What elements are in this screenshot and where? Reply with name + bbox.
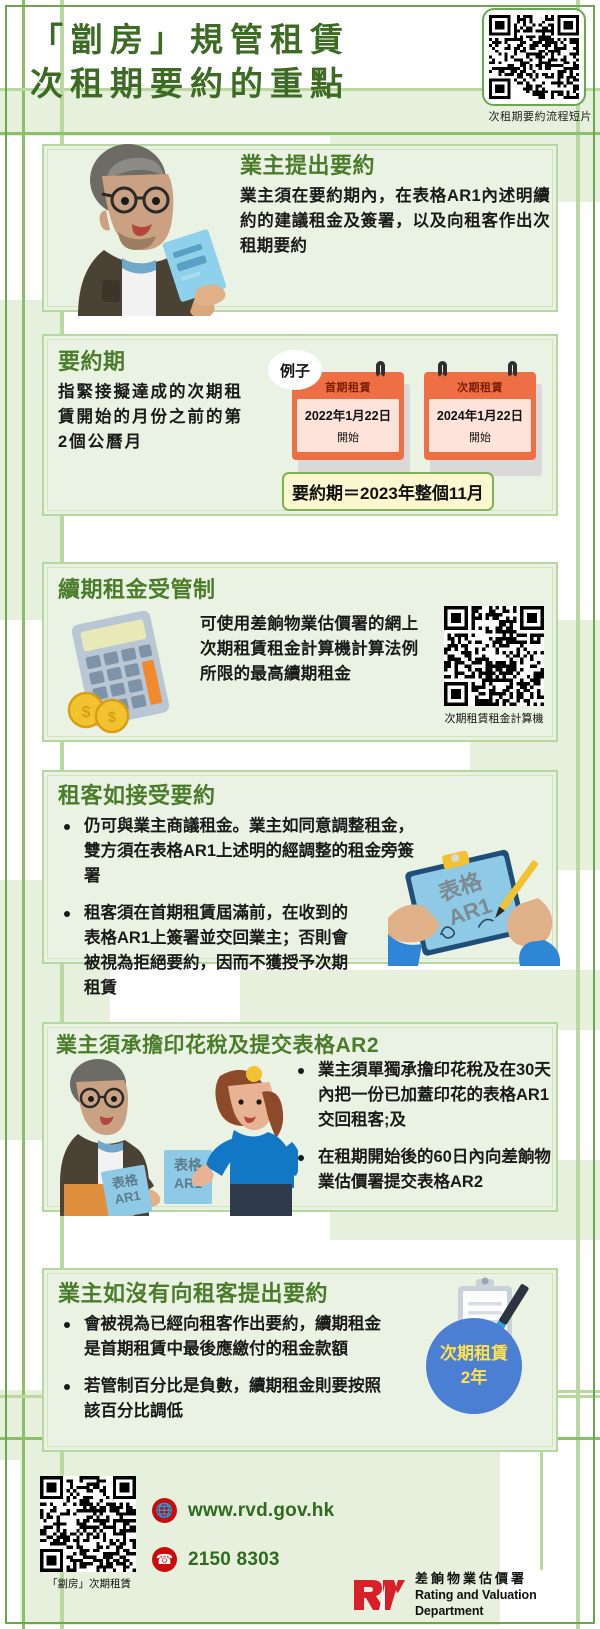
calendar-1-note: 開始 — [299, 429, 397, 445]
section-3-heading: 續期租金受管制 — [58, 576, 358, 604]
section-2-body: 指緊接擬達成的次期租賃開始的月份之前的第2個公曆月 — [58, 380, 248, 455]
calendar-1-date: 2022年1月22日 — [299, 405, 397, 424]
section-1-body: 業主須在要約期內，在表格AR1內述明續約的建議租金及簽署，以及向租客作出次租期要… — [240, 184, 550, 259]
status-badge-second-term: 次期租賃 2年 — [426, 1318, 522, 1414]
list-item: 租客須在首期租賃屆滿前，在收到的表格AR1上簽署並交回業主；否則會被視為拒絕要約… — [58, 901, 348, 1001]
qr-video-caption: 次租期要約流程短片 — [452, 108, 592, 124]
list-item: 若管制百分比是負數，續期租金則要按照該百分比調低 — [58, 1374, 388, 1424]
phone-text: 2150 8303 — [188, 1549, 280, 1571]
svg-text:$: $ — [82, 704, 91, 721]
section-5-bullets: 業主須單獨承擔印花稅及在30天內把一份已加蓋印花的表格AR1交回租客;及 在租期… — [292, 1058, 554, 1207]
phone-row[interactable]: ☎ 2150 8303 — [152, 1547, 280, 1572]
calendar-2-title: 次期租賃 — [429, 376, 531, 399]
title-line-1: 「劏房」規管租賃 — [30, 18, 470, 62]
section-2-heading: 要約期 — [58, 348, 278, 376]
globe-icon: 🌐 — [152, 1498, 177, 1523]
section-4-bullets: 仍可與業主商議租金。業主如同意調整租金，雙方須在表格AR1上述明的經調整的租金旁… — [58, 814, 428, 1013]
landlord-and-tenant-exchanging-form-ar1-illustration: 表格 AR1 表格 AR1 — [48, 1058, 298, 1216]
poster-header: 「劏房」規管租賃 次租期要約的重點 次租期要約流程短片 — [0, 0, 600, 135]
poster-footer: 「劏房」次期租賃 🌐 www.rvd.gov.hk ☎ 2150 8303 差餉… — [0, 1440, 600, 1629]
rvd-logo: 差餉物業估價署 Rating and Valuation Department — [352, 1570, 600, 1619]
list-item: 仍可與業主商議租金。業主如同意調整租金，雙方須在表格AR1上述明的經調整的租金旁… — [58, 814, 428, 889]
man-holding-form-ar1-illustration — [46, 140, 236, 316]
footer-qr-caption: 「劏房」次期租賃 — [34, 1576, 144, 1591]
qr-code-icon-subdivided-unit[interactable] — [40, 1476, 136, 1572]
qr-code-icon-calculator[interactable] — [444, 606, 544, 706]
offer-period-summary: 要約期＝2023年整個11月 — [282, 472, 494, 511]
list-item: 業主須單獨承擔印花稅及在30天內把一份已加蓋印花的表格AR1交回租客;及 — [292, 1058, 554, 1133]
title-line-2: 次租期要約的重點 — [30, 62, 470, 106]
dept-name-en: Rating and Valuation Department — [415, 1587, 600, 1619]
dept-name-cn: 差餉物業估價署 — [415, 1570, 600, 1587]
section-3-body: 可使用差餉物業估價署的網上次期租賃租金計算機計算法例所限的最高續期租金 — [200, 612, 430, 687]
rvd-logo-icon — [352, 1578, 406, 1612]
svg-text:$: $ — [108, 709, 117, 726]
calendar-second-term: 次期租賃 2024年1月22日 開始 — [424, 372, 542, 460]
infographic-poster: 「劏房」規管租賃 次租期要約的重點 次租期要約流程短片 — [0, 0, 600, 1629]
qr-calculator-caption: 次期租賃租金計算機 — [424, 710, 564, 726]
website-text: www.rvd.gov.hk — [188, 1500, 334, 1522]
badge-line-2: 2年 — [461, 1366, 487, 1390]
section-1-heading: 業主提出要約 — [240, 152, 550, 180]
section-6-heading: 業主如沒有向租客提出要約 — [58, 1280, 458, 1308]
badge-line-1: 次期租賃 — [440, 1342, 508, 1366]
website-row[interactable]: 🌐 www.rvd.gov.hk — [152, 1498, 334, 1523]
qr-code-icon-video[interactable] — [482, 8, 586, 106]
section-5-heading: 業主須承擔印花稅及提交表格AR2 — [56, 1032, 546, 1060]
calendar-2-date: 2024年1月22日 — [431, 405, 529, 424]
list-item: 會被視為已經向租客作出要約，續期租金是首期租賃中最後應繳付的租金款額 — [58, 1312, 388, 1362]
phone-icon: ☎ — [152, 1547, 177, 1572]
calendar-2-note: 開始 — [431, 429, 529, 445]
calculator-with-coins-illustration: $ $ — [58, 606, 188, 734]
section-4-heading: 租客如接受要約 — [58, 782, 358, 810]
page-title: 「劏房」規管租賃 次租期要約的重點 — [30, 18, 470, 106]
example-bubble: 例子 — [268, 350, 322, 390]
section-6-bullets: 會被視為已經向租客作出要約，續期租金是首期租賃中最後應繳付的租金款額 若管制百分… — [58, 1312, 388, 1436]
list-item: 在租期開始後的60日內向差餉物業估價署提交表格AR2 — [292, 1145, 554, 1195]
